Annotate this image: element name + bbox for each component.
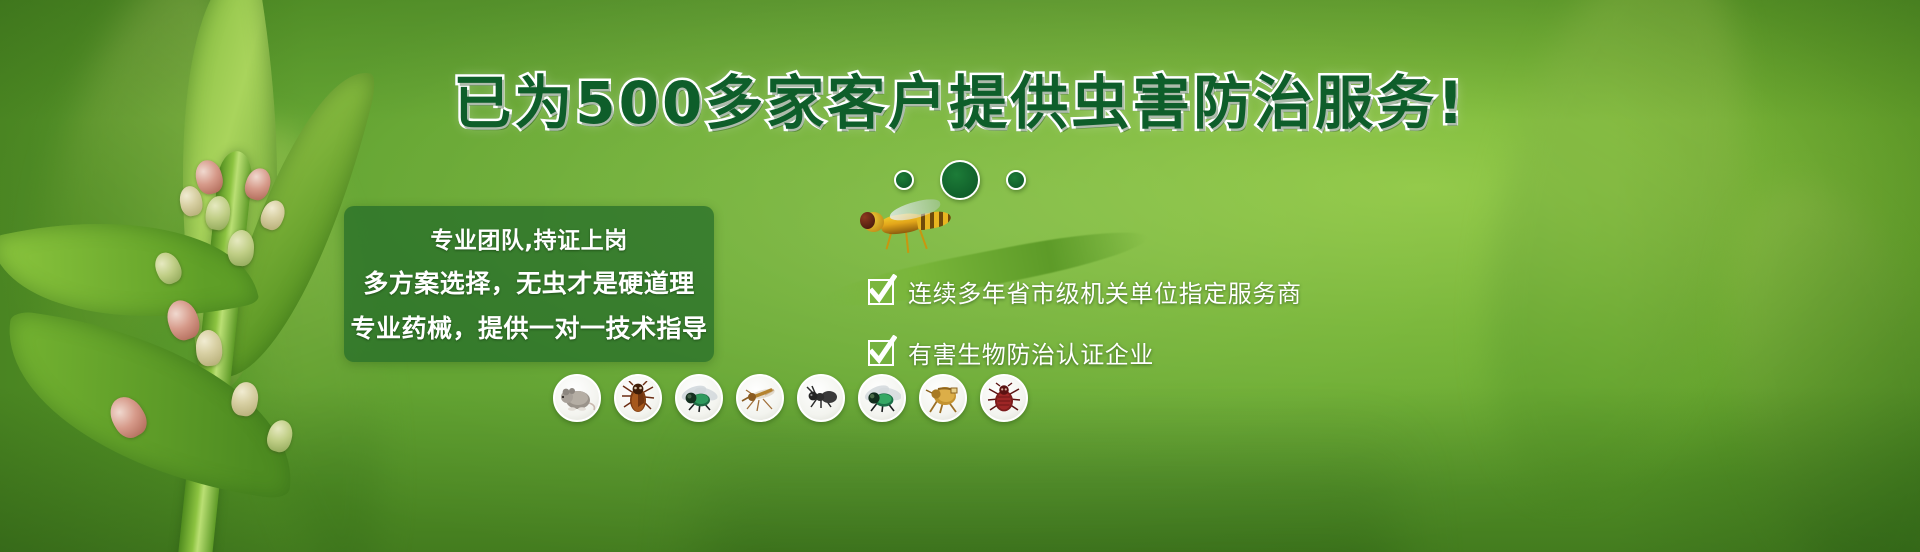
panel-line-1: 专业团队,持证上岗 [344, 221, 714, 255]
list-item-label: 有害生物防治认证企业 [908, 335, 1154, 370]
blowfly-icon[interactable] [858, 374, 906, 422]
pest-type-icon-row [553, 374, 1028, 422]
ant-icon[interactable] [797, 374, 845, 422]
hoverfly-icon [855, 198, 955, 250]
bedbug-icon[interactable] [980, 374, 1028, 422]
mosquito-icon[interactable] [736, 374, 784, 422]
decorative-dot-small-left [894, 170, 914, 190]
flea-icon[interactable] [919, 374, 967, 422]
checkbox-checked-icon [868, 279, 894, 305]
mouse-icon[interactable] [553, 374, 601, 422]
fly-icon[interactable] [675, 374, 723, 422]
headline-text: 已为500多家客户提供虫害防治服务! [453, 69, 1467, 137]
cockroach-icon[interactable] [614, 374, 662, 422]
credential-checklist: 连续多年省市级机关单位指定服务商 有害生物防治认证企业 [868, 274, 1302, 370]
decorative-dot-large-center [940, 160, 980, 200]
panel-line-3: 专业药械，提供一对一技术指导 [344, 309, 714, 345]
list-item-label: 连续多年省市级机关单位指定服务商 [908, 274, 1302, 309]
list-item: 有害生物防治认证企业 [868, 335, 1302, 370]
feature-highlight-panel: 专业团队,持证上岗 多方案选择，无虫才是硬道理 专业药械，提供一对一技术指导 [344, 206, 714, 362]
pest-control-promo-banner: 已为500多家客户提供虫害防治服务! 专业团队,持证上岗 多方案选择，无虫才是硬… [0, 0, 1920, 552]
panel-line-2: 多方案选择，无虫才是硬道理 [344, 264, 714, 300]
list-item: 连续多年省市级机关单位指定服务商 [868, 274, 1302, 309]
page-title: 已为500多家客户提供虫害防治服务! [0, 74, 1920, 132]
checkbox-checked-icon [868, 340, 894, 366]
decorative-dot-group [0, 160, 1920, 200]
decorative-dot-small-right [1006, 170, 1026, 190]
